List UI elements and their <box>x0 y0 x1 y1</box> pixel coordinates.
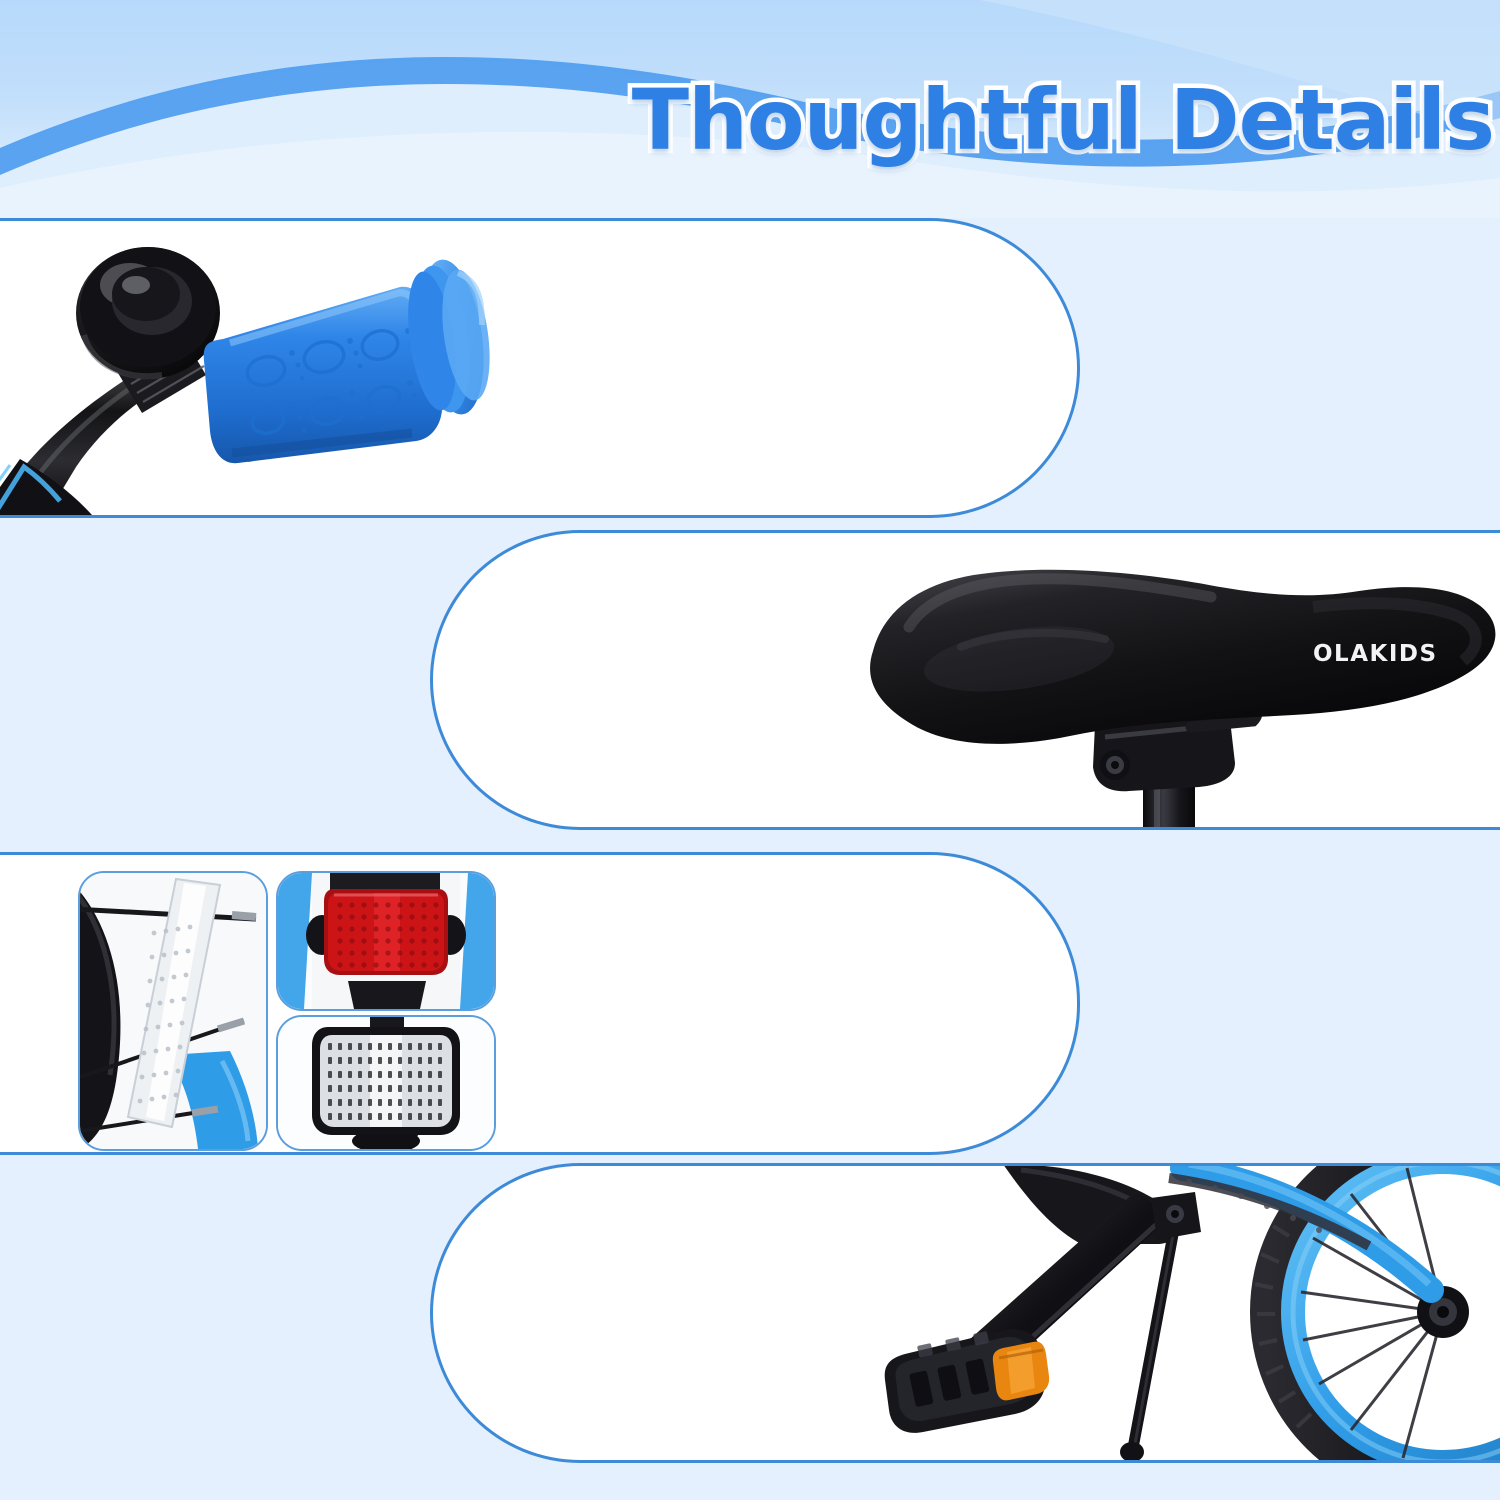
white-front-reflector-photo <box>278 1017 494 1149</box>
wheel-spoke-reflector-thumb <box>78 871 268 1151</box>
feature-row-kickstand: Kickstand <box>0 1163 1500 1463</box>
header-banner: Thoughtful Details <box>0 0 1500 218</box>
wheel-spoke-reflector-photo <box>80 873 266 1149</box>
feature-row-handle: Easy Grip Handle with Bell <box>0 218 1500 518</box>
handlebar-grip-with-bell-photo <box>0 218 700 518</box>
feature-row-seat: OLAKIDS Widen Soft Padding Seat <box>0 530 1500 830</box>
feature-panel: 3 Different Reflectors <box>0 852 1080 1155</box>
white-front-reflector-thumb <box>276 1015 496 1151</box>
feature-panel: Kickstand <box>430 1163 1500 1463</box>
padded-saddle-photo: OLAKIDS <box>843 539 1500 830</box>
infographic-page: Thoughtful Details <box>0 0 1500 1500</box>
saddle-brand-label: OLAKIDS <box>1313 641 1438 667</box>
feature-row-reflectors: 3 Different Reflectors <box>0 852 1500 1155</box>
red-rear-reflector-thumb <box>276 871 496 1011</box>
feature-panel: Easy Grip Handle with Bell <box>0 218 1080 518</box>
page-title: Thoughtful Details <box>632 74 1494 166</box>
red-rear-reflector-photo <box>278 873 494 1009</box>
feature-panel: OLAKIDS Widen Soft Padding Seat <box>430 530 1500 830</box>
kickstand-and-pedal-photo <box>883 1163 1500 1463</box>
